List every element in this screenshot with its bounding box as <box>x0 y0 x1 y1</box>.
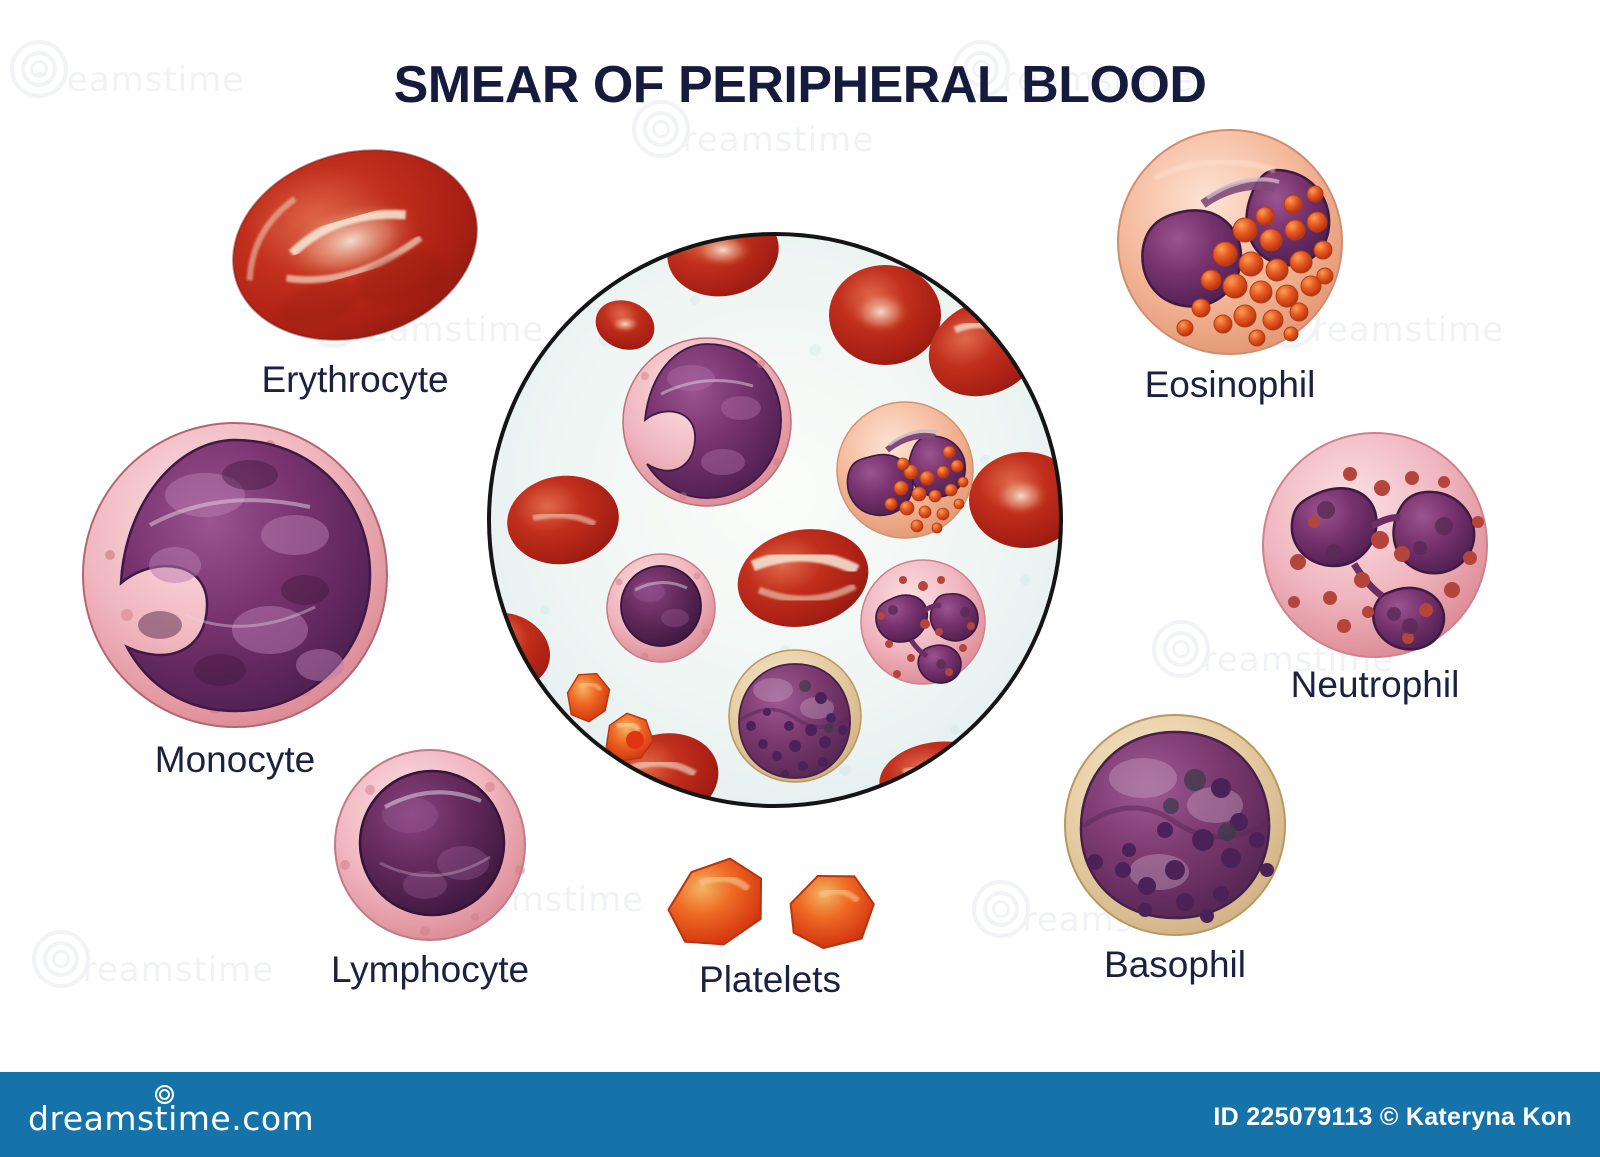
dreamstime-logo[interactable]: dreamstime.com <box>28 1099 314 1138</box>
image-credit: ID 225079113 © Kateryna Kon <box>1213 1103 1572 1132</box>
watermark-text: dreamstime <box>60 950 274 990</box>
specimen-neutrophil[interactable]: Neutrophil <box>1230 430 1520 706</box>
specimen-label-erythrocyte: Erythrocyte <box>200 359 510 401</box>
specimen-label-neutrophil: Neutrophil <box>1230 664 1520 706</box>
lymphocyte-cell-icon <box>275 745 585 945</box>
eosinophil-cell-icon <box>1085 130 1375 360</box>
watermark-text: dreamstime <box>660 120 874 160</box>
specimen-basophil[interactable]: Basophil <box>1025 710 1325 986</box>
page-title: SMEAR OF PERIPHERAL BLOOD <box>0 55 1600 115</box>
monocyte-cell-icon <box>55 415 415 735</box>
specimen-label-lymphocyte: Lymphocyte <box>275 949 585 991</box>
spiral-icon <box>32 930 90 988</box>
neutrophil-cell-icon <box>1230 430 1520 660</box>
specimen-monocyte[interactable]: Monocyte <box>55 415 415 781</box>
specimen-platelets[interactable]: Platelets <box>640 845 900 1001</box>
spiral-icon <box>972 880 1030 938</box>
dreamstime-spiral-icon <box>155 1085 174 1104</box>
specimen-erythrocyte[interactable]: Erythrocyte <box>200 140 510 401</box>
spiral-icon <box>1152 620 1210 678</box>
footer-bar: dreamstime.com ID 225079113 © Kateryna K… <box>0 1072 1600 1157</box>
erythrocyte-cell-icon <box>200 140 510 355</box>
platelets-icon <box>640 845 900 955</box>
specimen-label-basophil: Basophil <box>1025 944 1325 986</box>
specimen-label-eosinophil: Eosinophil <box>1085 364 1375 406</box>
specimen-label-platelets: Platelets <box>640 959 900 1001</box>
specimen-lymphocyte[interactable]: Lymphocyte <box>275 745 585 991</box>
microscope-field-icon <box>485 230 1065 810</box>
basophil-cell-icon <box>1025 710 1325 940</box>
specimen-eosinophil[interactable]: Eosinophil <box>1085 130 1375 406</box>
blood-smear-microscope-view[interactable] <box>485 230 1065 810</box>
